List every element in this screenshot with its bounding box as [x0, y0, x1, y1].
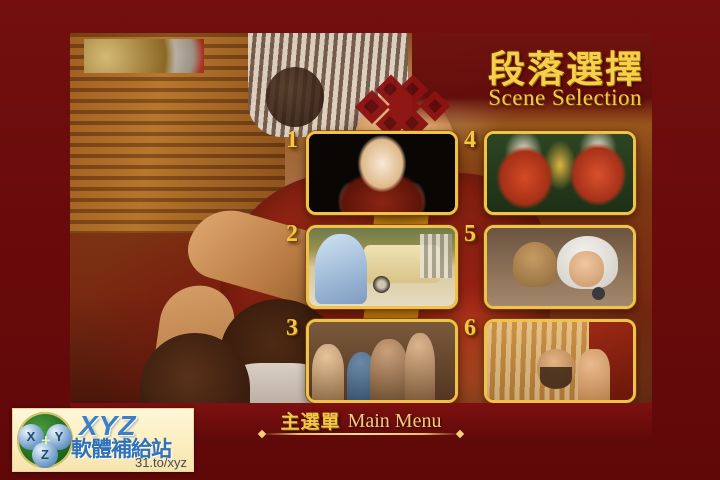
scene-cell-2[interactable]: 2	[306, 225, 458, 309]
main-menu-label-english: Main Menu	[348, 410, 442, 432]
scene-thumbnail-5[interactable]	[484, 225, 636, 309]
menu-panel: 段落選擇 Scene Selection 1 2 3	[70, 33, 652, 403]
scene-thumbnail-1[interactable]	[306, 131, 458, 215]
main-menu-label-chinese: 主選單	[281, 411, 341, 433]
scene-cell-6[interactable]: 6	[484, 319, 636, 403]
dvd-menu-screen: 段落選擇 Scene Selection 1 2 3	[0, 0, 720, 480]
scene-number-5: 5	[464, 221, 476, 248]
watermark-logo: X Y Z + XYZ 軟體補給站 31.to/xyz	[12, 408, 194, 472]
main-menu-underline	[263, 433, 459, 435]
badge-plus-icon: +	[41, 434, 51, 448]
scene-cell-3[interactable]: 3	[306, 319, 458, 403]
scene-thumbnail-2[interactable]	[306, 225, 458, 309]
scene-grid: 1 2 3	[70, 33, 652, 403]
scene-number-1: 1	[286, 127, 298, 154]
scene-cell-5[interactable]: 5	[484, 225, 636, 309]
scene-number-4: 4	[464, 127, 476, 154]
scene-thumbnail-3[interactable]	[306, 319, 458, 403]
scene-number-2: 2	[286, 221, 298, 248]
scene-number-6: 6	[464, 315, 476, 342]
scene-cell-4[interactable]: 4	[484, 131, 636, 215]
watermark-url: 31.to/xyz	[135, 455, 187, 470]
scene-thumbnail-4[interactable]	[484, 131, 636, 215]
xyz-badge-icon: X Y Z +	[17, 412, 73, 468]
scene-number-3: 3	[286, 315, 298, 342]
scene-cell-1[interactable]: 1	[306, 131, 458, 215]
scene-thumbnail-6[interactable]	[484, 319, 636, 403]
